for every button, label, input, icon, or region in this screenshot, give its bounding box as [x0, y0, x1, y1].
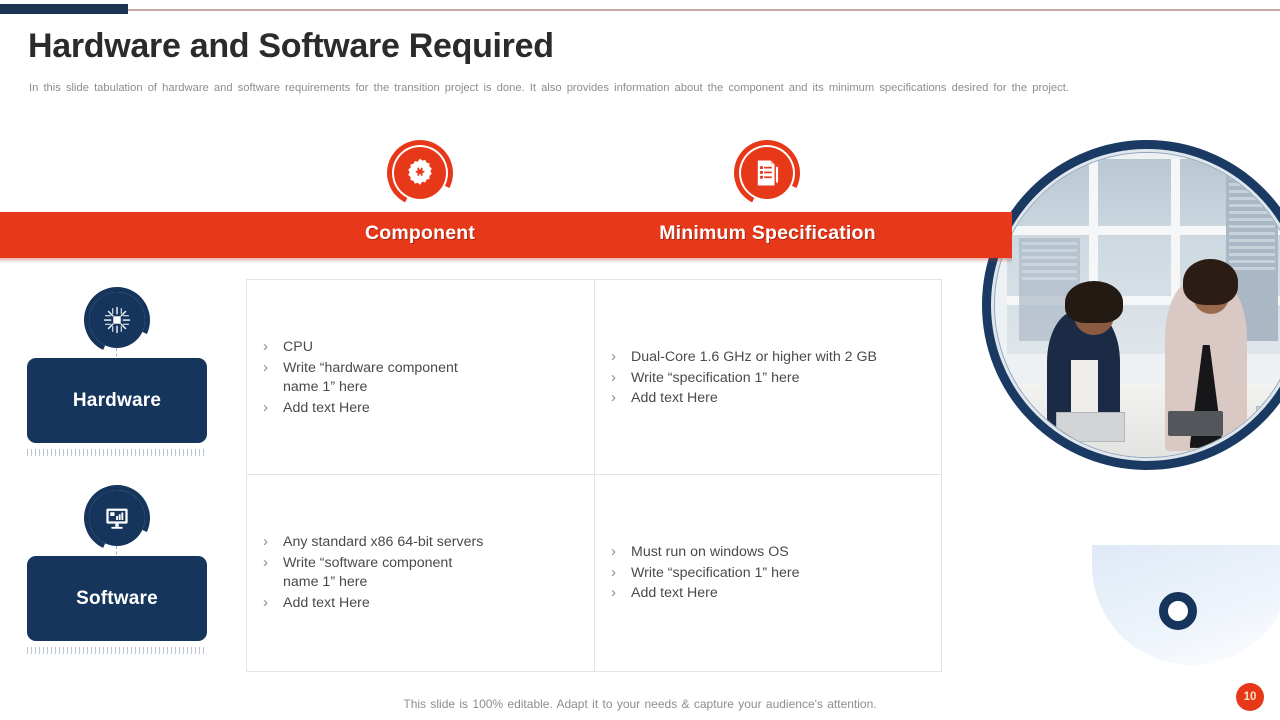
decorative-ring	[1159, 592, 1197, 630]
list-item: CPU	[257, 338, 586, 358]
monitor-chart-icon	[89, 490, 145, 546]
list-item: Dual-Core 1.6 GHz or higher with 2 GB	[605, 348, 933, 368]
list-item: Write “specification 1” here	[605, 369, 933, 389]
list-item: Write “hardware component name 1” here	[257, 359, 586, 398]
list-item: Add text Here	[605, 584, 933, 604]
list-item: Write “software component name 1” here	[257, 554, 586, 593]
page-number-badge: 10	[1236, 683, 1264, 711]
page-title: Hardware and Software Required	[28, 24, 928, 68]
slide-canvas: Hardware and Software Required In this s…	[0, 0, 1280, 720]
list-item: Add text Here	[257, 399, 586, 419]
top-accent-tab	[0, 4, 128, 14]
category-hardware-label: Hardware	[73, 390, 161, 412]
bullet-list: CPU Write “hardware component name 1” he…	[257, 338, 586, 419]
category-software-ticks	[27, 647, 207, 654]
list-item: Any standard x86 64-bit servers	[257, 533, 586, 553]
top-accent-rule	[0, 9, 1280, 11]
team-photo	[982, 140, 1280, 470]
cpu-chip-icon	[89, 292, 145, 348]
list-item: Add text Here	[605, 389, 933, 409]
gear-icon	[387, 140, 453, 206]
document-checklist-icon	[734, 140, 800, 206]
list-item: Must run on windows OS	[605, 543, 933, 563]
column-header-component: Component	[320, 222, 520, 245]
category-software-box[interactable]: Software	[27, 556, 207, 641]
footer-note: This slide is 100% editable. Adapt it to…	[0, 697, 1280, 711]
requirements-table: CPU Write “hardware component name 1” he…	[246, 279, 942, 672]
category-software-label: Software	[76, 588, 158, 610]
column-header-specification: Minimum Specification	[620, 222, 915, 245]
bullet-list: Dual-Core 1.6 GHz or higher with 2 GB Wr…	[605, 348, 933, 410]
page-subtitle: In this slide tabulation of hardware and…	[29, 80, 1209, 96]
category-hardware-box[interactable]: Hardware	[27, 358, 207, 443]
table-cell-hardware-specification[interactable]: Dual-Core 1.6 GHz or higher with 2 GB Wr…	[594, 279, 942, 475]
table-cell-hardware-component[interactable]: CPU Write “hardware component name 1” he…	[246, 279, 595, 475]
table-cell-software-component[interactable]: Any standard x86 64-bit servers Write “s…	[246, 474, 595, 672]
category-hardware-ticks	[27, 449, 207, 456]
banner-shadow	[0, 258, 1012, 263]
bullet-list: Any standard x86 64-bit servers Write “s…	[257, 533, 586, 614]
list-item: Add text Here	[257, 594, 586, 614]
table-cell-software-specification[interactable]: Must run on windows OS Write “specificat…	[594, 474, 942, 672]
team-photo-inner	[994, 152, 1280, 458]
list-item: Write “specification 1” here	[605, 564, 933, 584]
bullet-list: Must run on windows OS Write “specificat…	[605, 543, 933, 605]
